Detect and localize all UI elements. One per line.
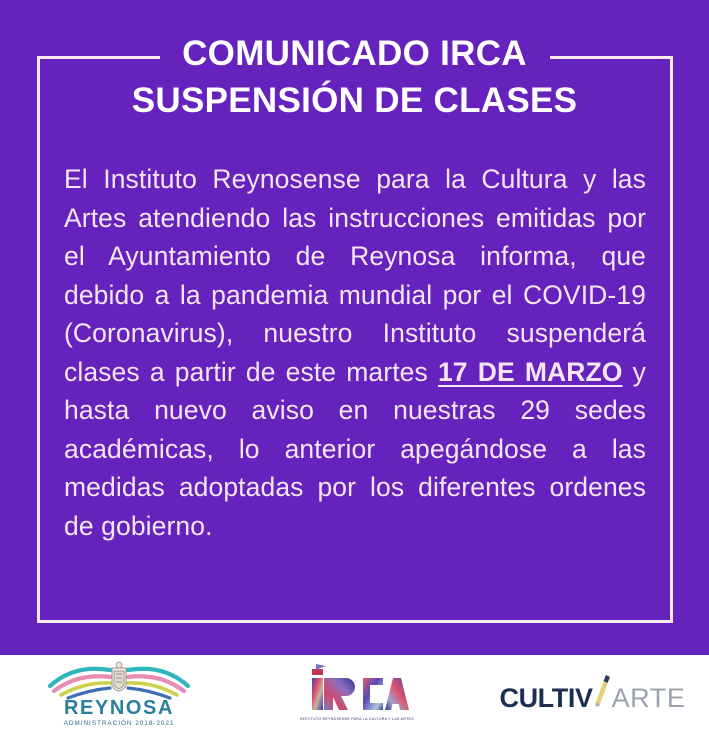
poster-canvas: COMUNICADO IRCA SUSPENSIÓN DE CLASES El …: [0, 0, 709, 731]
cultivarte-bold-part: CULTIV: [499, 683, 592, 714]
irca-subtitle: INSTITUTO REYNOSENSE PARA LA CULTURA Y L…: [300, 717, 414, 722]
headline-line-1: COMUNICADO IRCA: [0, 30, 709, 77]
announcement-paragraph: El Instituto Reynosense para la Cultura …: [64, 160, 646, 545]
page-title: COMUNICADO IRCA SUSPENSIÓN DE CLASES: [0, 30, 709, 124]
headline-line-2: SUSPENSIÓN DE CLASES: [0, 77, 709, 124]
announcement-body: El Instituto Reynosense para la Cultura …: [64, 160, 646, 545]
announcement-date-highlight: 17 DE MARZO: [438, 357, 623, 387]
irca-lockup: INSTITUTO REYNOSENSE PARA LA CULTURA Y L…: [300, 664, 414, 722]
irca-wordmark-icon: [305, 664, 409, 716]
reynosa-wings-icon: [44, 660, 194, 700]
paintbrush-icon: [591, 673, 613, 707]
logo-cultivarte: CULTIV ARTE: [476, 655, 709, 731]
logo-reynosa: REYNOSA ADMINISTRACIÓN 2018-2021: [0, 655, 238, 731]
announcement-text-part-1: El Instituto Reynosense para la Cultura …: [64, 164, 646, 387]
reynosa-subtitle: ADMINISTRACIÓN 2018-2021: [64, 719, 175, 728]
reynosa-wordmark: REYNOSA: [64, 698, 174, 718]
footer-logo-bar: REYNOSA ADMINISTRACIÓN 2018-2021: [0, 655, 709, 731]
reynosa-coat-of-arms-icon: [112, 662, 126, 691]
cultivarte-lockup: CULTIV ARTE: [499, 673, 685, 714]
cultivarte-light-part: ARTE: [612, 683, 686, 714]
reynosa-lockup: REYNOSA ADMINISTRACIÓN 2018-2021: [44, 660, 194, 728]
logo-irca: INSTITUTO REYNOSENSE PARA LA CULTURA Y L…: [238, 655, 476, 731]
